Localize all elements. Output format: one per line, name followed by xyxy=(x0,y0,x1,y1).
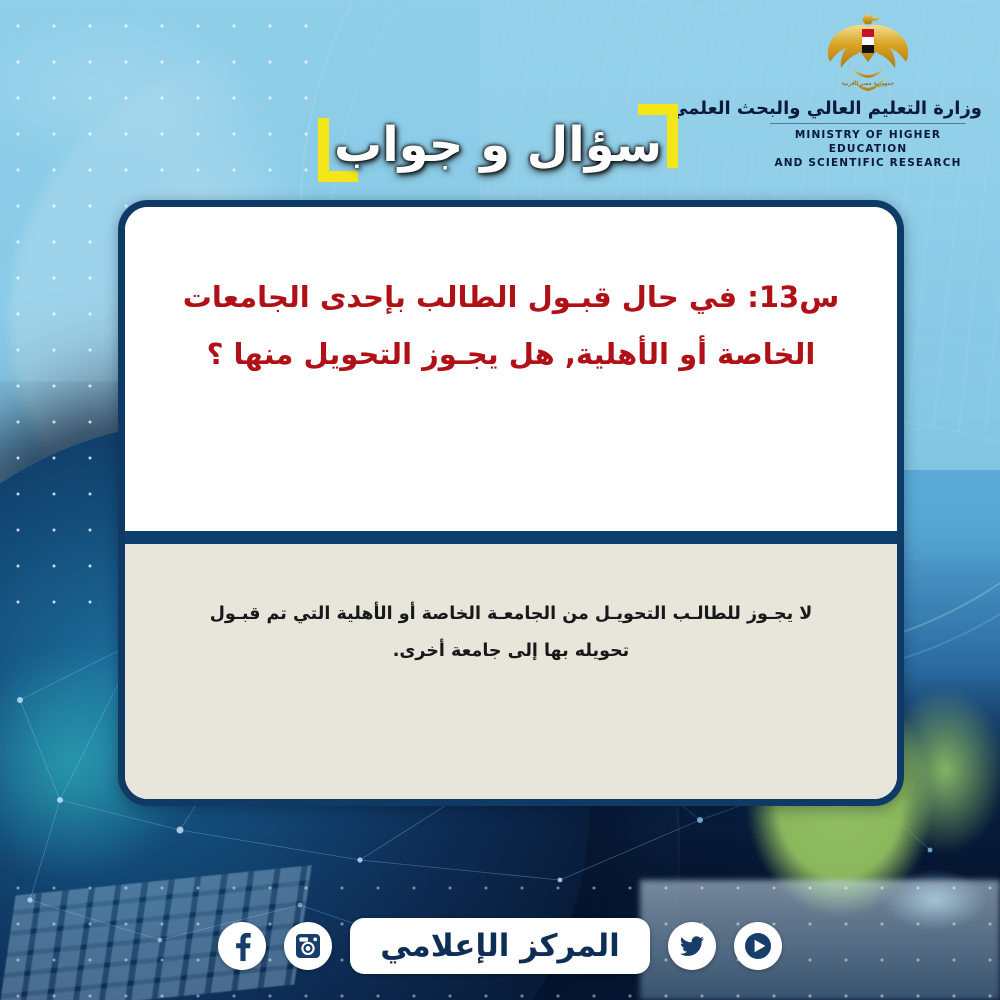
youtube-icon xyxy=(741,929,775,963)
media-center-label: المركز الإعلامي xyxy=(380,931,620,962)
facebook-button[interactable] xyxy=(218,922,266,970)
footer-social-bar: المركز الإعلامي xyxy=(0,918,1000,974)
ministry-name-english-line2: AND SCIENTIFIC RESEARCH xyxy=(754,156,982,170)
question-text: س13: في حال قبـول الطالب بإحدى الجامعات … xyxy=(173,269,849,382)
card-divider xyxy=(125,531,897,544)
logo-divider xyxy=(770,123,966,124)
answer-text: لا يجـوز للطالـب التحويـل من الجامعـة ال… xyxy=(181,596,841,670)
qa-card: س13: في حال قبـول الطالب بإحدى الجامعات … xyxy=(118,200,904,806)
egypt-eagle-emblem-icon: جمهورية مصر العربية xyxy=(822,10,914,96)
ministry-name-english-line1: MINISTRY OF HIGHER EDUCATION xyxy=(754,128,982,156)
instagram-icon xyxy=(294,932,322,960)
youtube-button[interactable] xyxy=(734,922,782,970)
twitter-icon xyxy=(677,931,707,961)
poster-title: سؤال و جواب xyxy=(318,104,678,186)
svg-text:جمهورية مصر العربية: جمهورية مصر العربية xyxy=(842,80,895,87)
media-center-badge[interactable]: المركز الإعلامي xyxy=(350,918,650,974)
question-section: س13: في حال قبـول الطالب بإحدى الجامعات … xyxy=(125,207,897,531)
ministry-name-arabic: وزارة التعليم العالي والبحث العلمي xyxy=(754,98,982,119)
poster-canvas: جمهورية مصر العربية وزارة التعليم العالي… xyxy=(0,0,1000,1000)
ministry-logo: جمهورية مصر العربية وزارة التعليم العالي… xyxy=(754,10,982,171)
twitter-button[interactable] xyxy=(668,922,716,970)
poster-title-block: سؤال و جواب xyxy=(318,104,678,186)
answer-section: لا يجـوز للطالـب التحويـل من الجامعـة ال… xyxy=(125,544,897,800)
instagram-button[interactable] xyxy=(284,922,332,970)
facebook-icon xyxy=(227,931,257,961)
